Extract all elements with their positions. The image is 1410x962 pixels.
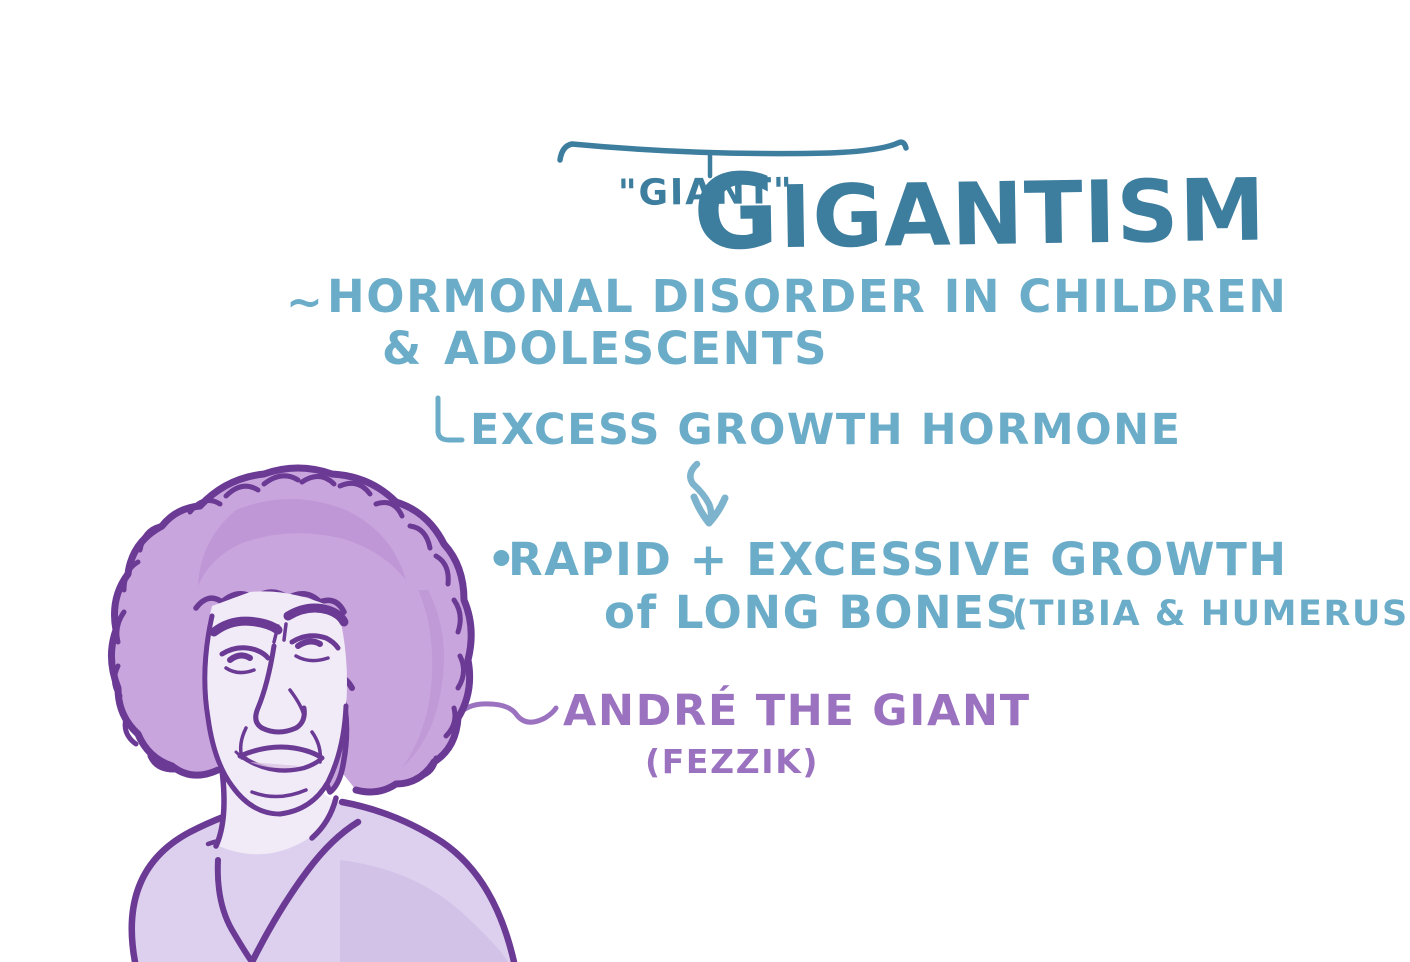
tilde-marker: ~ [286,277,324,328]
annotation-label: ANDRÉ THE GIANT [563,686,1031,736]
note-line-1: HORMONAL DISORDER IN CHILDREN [327,270,1288,323]
title-subtitle: "GIANT" [618,171,794,214]
ampersand-marker: & [382,322,423,375]
down-arrow-icon [690,464,725,523]
note-line-5-paren: (TIBIA & HUMERUS) [1012,594,1410,634]
note-line-2: ADOLESCENTS [444,322,828,375]
branch-bracket-icon [438,398,462,440]
whiteboard-canvas: GIGANTISM "GIANT" ~ HORMONAL DISORDER IN… [0,0,1410,962]
note-line-5: of LONG BONES [604,586,1020,639]
note-line-3: EXCESS GROWTH HORMONE [470,405,1182,455]
annotation-sublabel: (FEZZIK) [645,742,819,781]
note-line-4: RAPID + EXCESSIVE GROWTH [508,533,1288,586]
page-title-rest: IGANTISM [779,161,1267,269]
andre-the-giant-portrait [40,440,560,962]
